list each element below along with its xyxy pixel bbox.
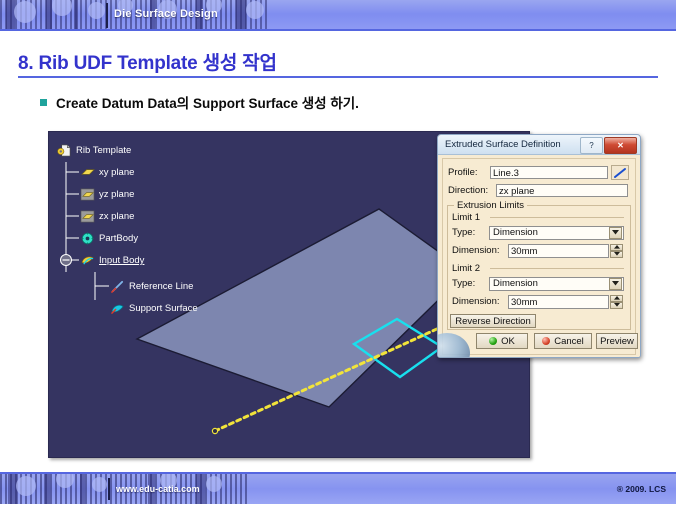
extruded-surface-definition-dialog[interactable]: Extruded Surface Definition ? ✕ Profile:…	[437, 134, 641, 358]
line-icon	[110, 280, 125, 293]
plane-yz-icon	[80, 188, 95, 201]
limit2-dimension-row: Dimension: 30mm	[452, 294, 627, 309]
chevron-glyph	[612, 281, 619, 286]
limit1-type-row: Type: Dimension	[452, 225, 627, 240]
header-divider	[106, 3, 108, 28]
globe-decoration-icon	[438, 333, 470, 357]
dialog-titlebar[interactable]: Extruded Surface Definition ? ✕	[438, 135, 640, 155]
tree-label: Rib Template	[76, 145, 131, 156]
surface-icon	[110, 302, 125, 315]
cancel-label: Cancel	[554, 336, 584, 347]
tree-item-support-surface[interactable]: Support Surface	[110, 302, 198, 315]
footer-bar-3	[80, 474, 85, 504]
cancel-button[interactable]: Cancel	[534, 333, 592, 349]
extrusion-limits-legend: Extrusion Limits	[454, 200, 527, 211]
footer-divider	[108, 478, 110, 500]
stepper-up-icon[interactable]	[610, 295, 623, 302]
plane-zx-icon	[80, 210, 95, 223]
stepper-up-icon[interactable]	[610, 244, 623, 251]
tree-item-xy-plane[interactable]: xy plane	[80, 166, 134, 179]
limit2-separator	[490, 268, 624, 269]
plane-xy-icon	[80, 166, 95, 179]
tree-item-reference-line[interactable]: Reference Line	[110, 280, 193, 293]
caret-down-glyph	[614, 303, 620, 307]
limit1-type-label: Type:	[452, 227, 489, 238]
profile-label: Profile:	[448, 167, 490, 178]
chevron-down-icon[interactable]	[609, 227, 622, 239]
dialog-body: Profile: Line.3 Direction: zx plane Extr…	[438, 155, 640, 357]
limit2-dimension-input[interactable]: 30mm	[508, 295, 609, 309]
direction-row: Direction: zx plane	[448, 183, 630, 198]
part-document-icon	[57, 144, 72, 157]
footer-copyright: ® 2009. LCS	[617, 484, 666, 494]
footer-circle-5	[206, 476, 222, 492]
tree-item-yz-plane[interactable]: yz plane	[80, 188, 134, 201]
footer-bar-2	[44, 474, 50, 504]
tree-label: PartBody	[99, 233, 138, 244]
limit2-dimension-label: Dimension:	[452, 296, 508, 307]
stepper-down-icon[interactable]	[610, 251, 623, 258]
footer-banner: www.edu-catia.com ® 2009. LCS	[0, 472, 676, 504]
header-title: Die Surface Design	[114, 8, 218, 20]
stepper-down-icon[interactable]	[610, 302, 623, 309]
caret-down-glyph	[614, 252, 620, 256]
ok-button[interactable]: OK	[476, 333, 528, 349]
bullet-row: Create Datum Data의 Support Surface 생성 하기…	[40, 92, 359, 112]
chevron-glyph	[612, 230, 619, 235]
dialog-inner-frame: Profile: Line.3 Direction: zx plane Extr…	[442, 158, 636, 355]
partbody-icon	[80, 232, 95, 245]
tree-label: Input Body	[99, 255, 144, 266]
limit1-dimension-input[interactable]: 30mm	[508, 244, 609, 258]
tree-label: zx plane	[99, 211, 134, 222]
limit2-dimension-stepper[interactable]	[610, 295, 623, 309]
footer-url[interactable]: www.edu-catia.com	[116, 484, 200, 494]
tree-label: xy plane	[99, 167, 134, 178]
chevron-down-icon[interactable]	[609, 278, 622, 290]
slide-canvas: Die Surface Design 8. Rib UDF Template 생…	[0, 0, 676, 508]
limit1-dimension-row: Dimension: 30mm	[452, 243, 627, 258]
tree-item-zx-plane[interactable]: zx plane	[80, 210, 134, 223]
help-button[interactable]: ?	[580, 137, 603, 154]
limit1-type-value: Dimension	[493, 227, 538, 238]
limit1-dimension-label: Dimension:	[452, 245, 508, 256]
limit2-type-value: Dimension	[493, 278, 538, 289]
preview-label: Preview	[600, 336, 634, 347]
cancel-led-icon	[542, 337, 550, 345]
page-title: 8. Rib UDF Template 생성 작업	[18, 48, 277, 75]
header-circle-3	[88, 2, 105, 19]
reverse-direction-button[interactable]: Reverse Direction	[450, 314, 536, 328]
caret-up-glyph	[614, 296, 620, 300]
preview-button[interactable]: Preview	[596, 333, 638, 349]
direction-input[interactable]: zx plane	[496, 184, 628, 197]
tree-item-rib-template[interactable]: Rib Template	[57, 144, 131, 157]
tree-label: Support Surface	[129, 303, 198, 314]
limit2-type-label: Type:	[452, 278, 489, 289]
ok-led-icon	[489, 337, 497, 345]
header-bar-6	[236, 0, 246, 31]
header-circle-7	[246, 1, 264, 19]
header-banner: Die Surface Design	[0, 0, 676, 31]
footer-circle-3	[92, 477, 107, 492]
limit2-type-select[interactable]: Dimension	[489, 277, 624, 291]
header-circle-1	[14, 1, 36, 23]
header-rule	[0, 29, 676, 31]
tree-item-input-body[interactable]: Input Body	[80, 254, 144, 267]
limit1-dimension-stepper[interactable]	[610, 244, 623, 258]
close-icon[interactable]: ✕	[604, 137, 637, 154]
limit1-caption: Limit 1	[452, 212, 480, 223]
direction-label: Direction:	[448, 185, 496, 196]
limit2-caption: Limit 2	[452, 263, 480, 274]
caret-up-glyph	[614, 245, 620, 249]
limit1-type-select[interactable]: Dimension	[489, 226, 624, 240]
dialog-window-buttons: ? ✕	[580, 137, 637, 154]
tree-item-partbody[interactable]: PartBody	[80, 232, 138, 245]
line-pick-icon[interactable]	[611, 165, 629, 180]
direction-line-origin-point	[212, 428, 217, 433]
profile-row: Profile: Line.3	[448, 165, 630, 180]
tree-label: yz plane	[99, 189, 134, 200]
dialog-title: Extruded Surface Definition	[445, 139, 561, 150]
title-underline-rule	[18, 76, 658, 78]
bullet-text: Create Datum Data의 Support Surface 생성 하기…	[56, 92, 359, 112]
tree-label: Reference Line	[129, 281, 193, 292]
geometrical-set-icon	[80, 254, 95, 267]
diagonal-line-glyph	[613, 167, 627, 179]
bullet-square-icon	[40, 99, 47, 106]
header-bar-3	[74, 0, 78, 31]
limit1-separator	[490, 217, 624, 218]
footer-circle-1	[16, 476, 36, 496]
ok-label: OK	[501, 336, 515, 347]
limit2-type-row: Type: Dimension	[452, 276, 627, 291]
profile-input[interactable]: Line.3	[490, 166, 608, 179]
